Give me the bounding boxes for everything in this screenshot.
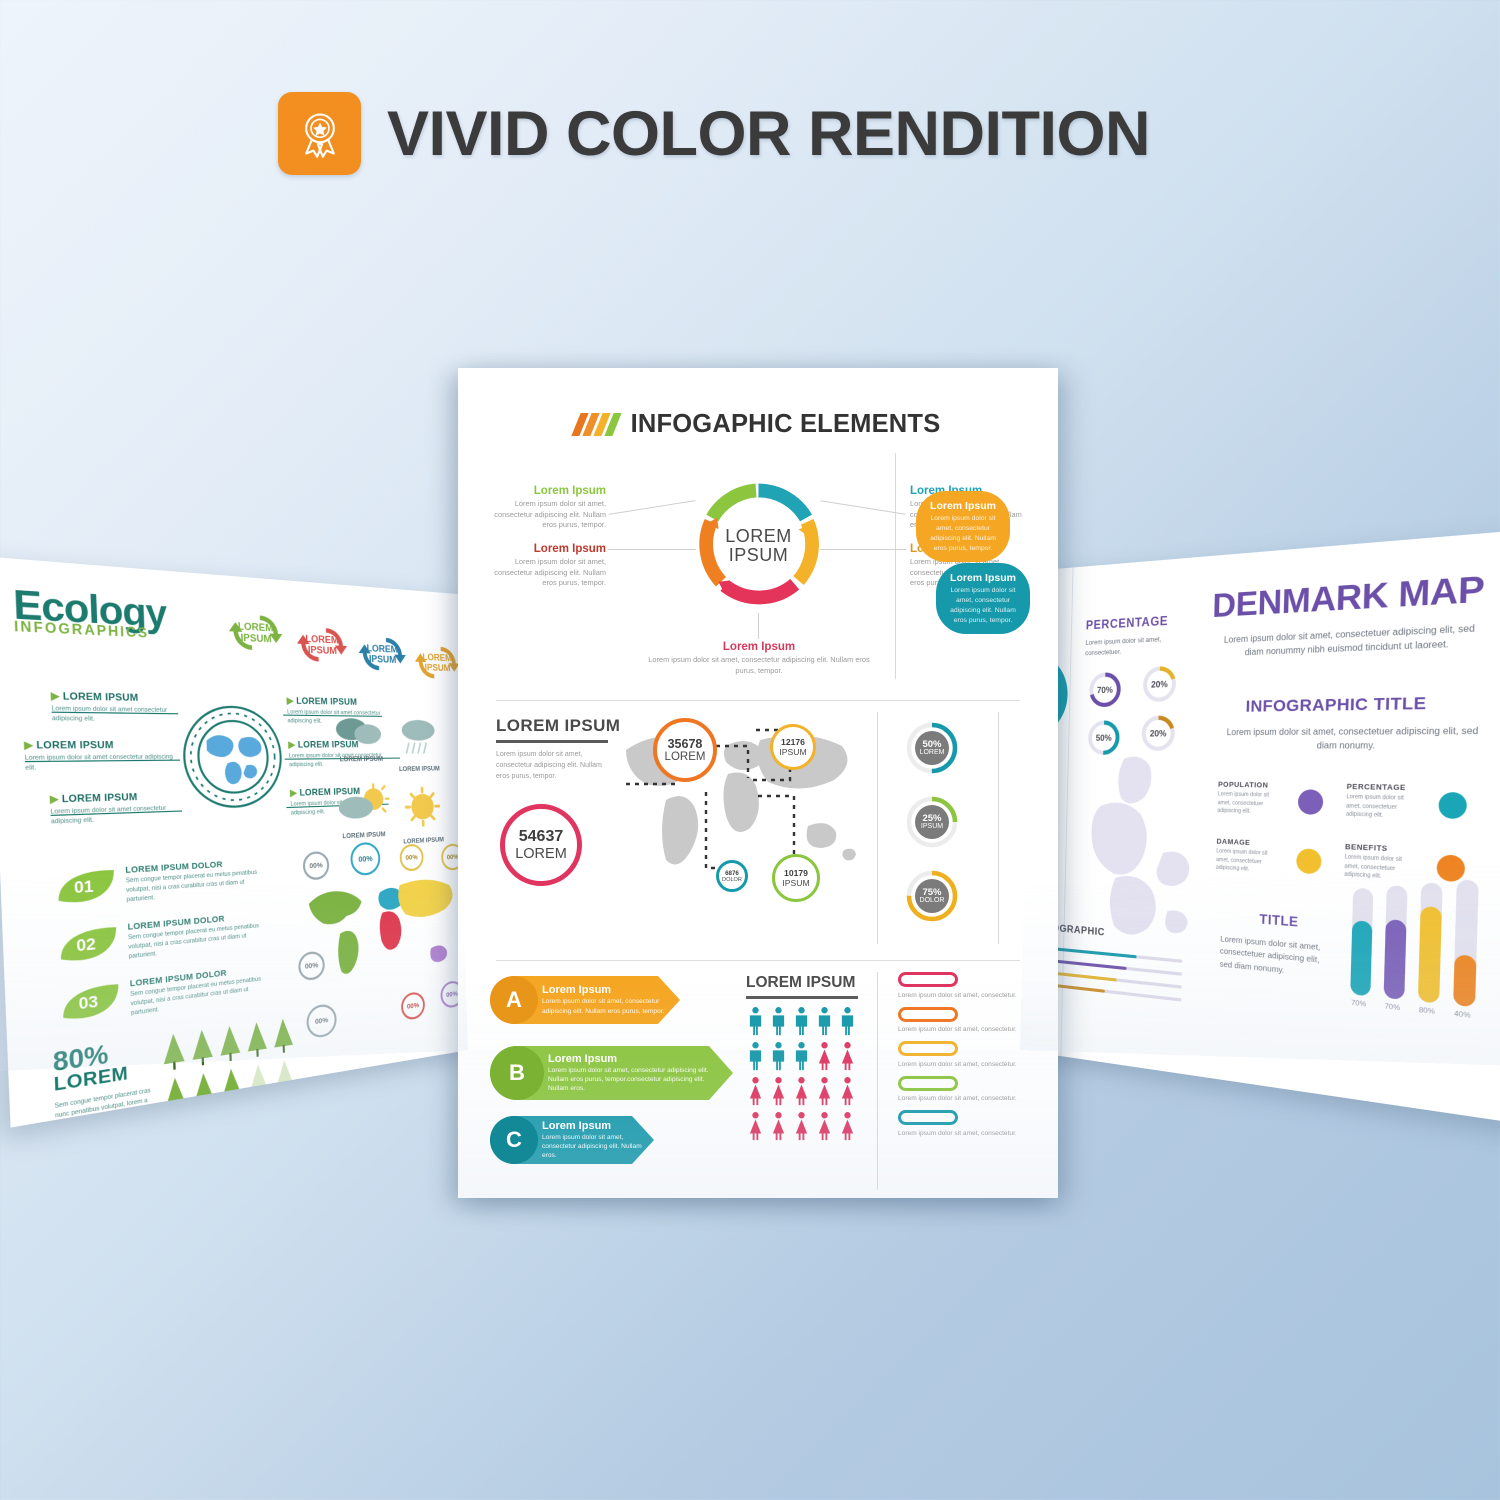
- cycle-center-line2: IPSUM: [729, 546, 789, 565]
- globe-label: ▶ LOREM IPSUM Lorem ipsum dolor sit amet…: [24, 739, 174, 774]
- arrow-banner[interactable]: C Lorem Ipsum Lorem ipsum dolor sit amet…: [490, 1116, 654, 1164]
- globe-diagram: [178, 702, 287, 813]
- tree-icon: [271, 1015, 295, 1056]
- globe-label-body: Lorem ipsum dolor sit amet consectetur a…: [25, 753, 174, 774]
- globe-label-body: Lorem ipsum dolor sit amet consectetur a…: [50, 803, 184, 827]
- pill-caption: Lorem ipsum dolor sit amet, consectetur.: [898, 1095, 1017, 1102]
- person-female-icon: [838, 1041, 857, 1071]
- cycle-label-body: Lorem ipsum dolor sit amet, consectetur …: [478, 499, 606, 531]
- globe-label-body: Lorem ipsum dolor sit amet consectetur a…: [51, 704, 178, 725]
- bar-chart-title: TITLE: [1259, 911, 1299, 930]
- cycle-label-body: Lorem ipsum dolor sit amet, consectetur …: [648, 655, 870, 676]
- rain-cloud-icon: [392, 716, 444, 758]
- legend-item: PERCENTAGE Lorem ipsum dolor sit amet, c…: [1346, 783, 1419, 822]
- person-female-icon: [769, 1111, 788, 1141]
- arrow-banner[interactable]: B Lorem Ipsum Lorem ipsum dolor sit amet…: [490, 1046, 733, 1100]
- tree-icon: [246, 1060, 271, 1102]
- cycle-label-heading: Lorem Ipsum: [478, 485, 606, 497]
- legend-heading: DAMAGE: [1216, 838, 1281, 849]
- globe-label-heading: LOREM IPSUM: [296, 695, 357, 707]
- bar-label: 70%: [1384, 1003, 1400, 1013]
- person-male-icon: [746, 1006, 765, 1036]
- callout-heading: Lorem Ipsum: [950, 572, 1016, 584]
- clouds-icon: [333, 709, 388, 748]
- center-sheet-title: INFOGAPHIC ELEMENTS: [631, 410, 941, 439]
- partly-sunny-icon: [335, 783, 390, 825]
- leaf-number: 02: [76, 934, 96, 955]
- legend-dot: [1436, 854, 1465, 882]
- gauge-percent: 25%: [922, 814, 941, 824]
- pill-shape: [898, 1076, 958, 1091]
- leaf-list-item: 01 LOREM IPSUM DOLOR Sem congue tempor p…: [53, 857, 260, 911]
- gauge-percent: 50%: [922, 740, 941, 750]
- pill-list: Lorem ipsum dolor sit amet, consectetur.…: [898, 972, 1017, 1145]
- percent-gauge: 75% DOLOR: [906, 870, 958, 922]
- marker-label: DOLOR: [722, 877, 742, 883]
- tree-icon: [217, 1022, 242, 1064]
- arrow-heading: Lorem Ipsum: [548, 1053, 723, 1065]
- tree-icon: [160, 1030, 187, 1073]
- map-number-marker[interactable]: 10179 IPSUM: [772, 854, 820, 902]
- cycle-connector: [820, 549, 906, 550]
- cycle-connector: [608, 500, 695, 515]
- pill-caption: Lorem ipsum dolor sit amet, consectetur.: [898, 1026, 1017, 1033]
- gauge-center: 25% IPSUM: [915, 805, 949, 839]
- leaf-number: 03: [78, 991, 98, 1013]
- legend-body: Lorem ipsum dolor sit amet, consectetuer…: [1217, 791, 1282, 818]
- cycle-label: Lorem Ipsum Lorem ipsum dolor sit amet, …: [648, 641, 870, 676]
- people-title-rule: [746, 996, 858, 999]
- gauge-label: LOREM: [920, 749, 945, 756]
- tree-pictogram-grid: [160, 1015, 296, 1117]
- callout-box: Lorem Ipsum Lorem ipsum dolor sit amet, …: [936, 563, 1030, 634]
- gauge-center: 50% LOREM: [915, 731, 949, 765]
- person-female-icon: [769, 1076, 788, 1106]
- cycle-label-heading: Lorem Ipsum: [648, 641, 870, 653]
- person-female-icon: [792, 1076, 811, 1106]
- ecology-infographic-sheet[interactable]: Ecology INFOGRAPHICS LOREM IPSUM LOREM I…: [0, 557, 475, 1128]
- globe-label: ▶ LOREM IPSUM Lorem ipsum dolor sit amet…: [51, 689, 179, 725]
- weather-caption: LOREM IPSUM: [333, 756, 389, 764]
- cycle-label: Lorem Ipsum Lorem ipsum dolor sit amet, …: [478, 485, 606, 531]
- tree-icon: [219, 1065, 244, 1107]
- leaf-icon: 03: [58, 979, 124, 1028]
- percentage-body: Lorem ipsum dolor sit amet, consectetuer…: [1085, 634, 1175, 659]
- bar: [1418, 906, 1442, 1003]
- person-female-icon: [746, 1111, 765, 1141]
- person-male-icon: [769, 1006, 788, 1036]
- section-divider: [496, 960, 1020, 961]
- arrow-body: Lorem ipsum dolor sit amet, consectetur …: [548, 1066, 723, 1094]
- tree-icon: [162, 1073, 189, 1116]
- marker-value: 54637: [519, 828, 564, 846]
- recycle-badge: LOREM IPSUM: [286, 620, 357, 645]
- cycle-label-body: Lorem ipsum dolor sit amet, consectetur …: [478, 557, 606, 589]
- leaf-icon: 02: [55, 922, 122, 969]
- leaf-body: Sem congue tempor placerat eu metus pena…: [126, 869, 261, 906]
- marker-value: 35678: [668, 737, 703, 751]
- gauge-percent: 75%: [922, 888, 941, 898]
- marker-label: IPSUM: [779, 747, 806, 757]
- arrow-body: Lorem ipsum dolor sit amet, consectetur …: [542, 1133, 644, 1161]
- section-divider: [877, 972, 878, 1190]
- people-pictogram-grid: [746, 1006, 857, 1141]
- arrow-tag: C: [490, 1116, 538, 1164]
- map-percent-marker: 00%: [306, 1003, 337, 1040]
- weather-item: LOREM IPSUM: [395, 785, 449, 845]
- person-female-icon: [838, 1076, 857, 1106]
- denmark-map-infographic-sheet[interactable]: % PERCENTAGE Lorem ipsum dolor sit amet,…: [1014, 529, 1500, 1122]
- person-female-icon: [815, 1041, 834, 1071]
- arrow-heading: Lorem Ipsum: [542, 984, 670, 996]
- pill-caption: Lorem ipsum dolor sit amet, consectetur.: [898, 992, 1017, 999]
- page-header: VIVID COLOR RENDITION: [278, 92, 1150, 175]
- map-number-marker[interactable]: 54637 LOREM: [500, 804, 582, 886]
- percent-gauge: 50% LOREM: [906, 722, 958, 774]
- weather-item: LOREM IPSUM: [334, 783, 391, 841]
- pill-shape: [898, 1007, 958, 1022]
- marker-label: LOREM: [515, 846, 567, 862]
- arrow-heading: Lorem Ipsum: [542, 1120, 644, 1132]
- percent-gauge: 25% IPSUM: [906, 796, 958, 848]
- weather-item: LOREM IPSUM: [391, 716, 445, 773]
- gauge-label: DOLOR: [920, 897, 945, 904]
- bar: [1453, 954, 1476, 1007]
- award-badge: [278, 92, 361, 175]
- legend-item: BENEFITS Lorem ipsum dolor sit amet, con…: [1344, 843, 1417, 883]
- tree-icon: [273, 1056, 297, 1097]
- infographic-body: Lorem ipsum dolor sit amet, consectetuer…: [1225, 724, 1479, 754]
- weather-caption: LOREM IPSUM: [336, 831, 392, 841]
- cycle-label-heading: Lorem Ipsum: [478, 543, 606, 555]
- marker-value: 12176: [781, 737, 805, 747]
- percent-block: 80% LOREM Sem congue tempor placerat cra…: [52, 1036, 158, 1127]
- tree-icon: [191, 1069, 217, 1112]
- gauge-label: 50%: [1086, 719, 1121, 757]
- map-number-marker[interactable]: 35678 LOREM: [653, 718, 717, 782]
- pill-caption: Lorem ipsum dolor sit amet, consectetur.: [898, 1061, 1017, 1068]
- pill-caption: Lorem ipsum dolor sit amet, consectetur.: [898, 1130, 1017, 1137]
- legend-heading: BENEFITS: [1345, 843, 1418, 854]
- denmark-map-body: Lorem ipsum dolor sit amet, consectetuer…: [1215, 621, 1485, 661]
- sun-icon: [400, 786, 445, 831]
- world-map-colored: [295, 857, 467, 1007]
- person-female-icon: [838, 1111, 857, 1141]
- legend-dot: [1438, 792, 1467, 819]
- person-male-icon: [746, 1041, 765, 1071]
- cycle-connector: [820, 500, 905, 514]
- pill-list-item: Lorem ipsum dolor sit amet, consectetur.: [898, 1041, 1017, 1068]
- callout-body: Lorem ipsum dolor sit amet, consectetur …: [950, 586, 1016, 625]
- leaf-list-item: 02 LOREM IPSUM DOLOR Sem congue tempor p…: [55, 910, 262, 970]
- map-percent-marker: 00%: [401, 991, 426, 1021]
- bottom-section: A Lorem Ipsum Lorem ipsum dolor sit amet…: [458, 968, 1058, 1198]
- map-number-marker[interactable]: 12176 IPSUM: [770, 724, 816, 770]
- percentage-heading: PERCENTAGE: [1086, 615, 1169, 632]
- gauge-label: IPSUM: [921, 823, 943, 830]
- cycle-connector: [758, 613, 759, 639]
- weather-caption: LOREM IPSUM: [397, 836, 449, 846]
- person-female-icon: [815, 1111, 834, 1141]
- callout-body: Lorem ipsum dolor sit amet, consectetur …: [930, 514, 996, 553]
- award-ribbon-icon: [294, 108, 346, 160]
- gauge-center: 75% DOLOR: [915, 879, 949, 913]
- percentage-gauge: 20%: [1141, 664, 1178, 703]
- slash-logo-icon: [576, 413, 617, 436]
- pill-list-item: Lorem ipsum dolor sit amet, consectetur.: [898, 1076, 1017, 1103]
- globe-label-heading: LOREM IPSUM: [63, 690, 139, 704]
- recycle-badge: LOREM IPSUM: [217, 607, 293, 633]
- globe-label-heading: LOREM IPSUM: [36, 739, 114, 751]
- tree-icon: [189, 1026, 215, 1068]
- map-section-body: Lorem ipsum dolor sit amet, consectetur …: [496, 750, 614, 783]
- bar: [1350, 920, 1372, 996]
- globe-label: ▶ LOREM IPSUM Lorem ipsum dolor sit amet…: [50, 790, 185, 828]
- legend-body: Lorem ipsum dolor sit amet, consectetuer…: [1216, 848, 1281, 876]
- pill-shape: [898, 1110, 958, 1125]
- gauge-label: 70%: [1088, 670, 1123, 708]
- infographic-elements-sheet[interactable]: INFOGAPHIC ELEMENTS LOREM IPSUM: [458, 368, 1058, 1198]
- marker-value: 10179: [784, 868, 808, 878]
- person-female-icon: [815, 1076, 834, 1106]
- section-divider: [877, 712, 878, 944]
- globe-icon: [178, 702, 287, 813]
- center-sheet-header: INFOGAPHIC ELEMENTS: [458, 410, 1058, 439]
- arrow-tag: B: [490, 1046, 544, 1100]
- arrow-banner[interactable]: A Lorem Ipsum Lorem ipsum dolor sit amet…: [490, 976, 680, 1024]
- world-map-section: LOREM IPSUM Lorem ipsum dolor sit amet, …: [458, 708, 1058, 953]
- cycle-center-line1: LOREM: [725, 527, 792, 546]
- percentage-gauge: 50%: [1086, 719, 1121, 757]
- map-section-title: LOREM IPSUM: [496, 716, 620, 736]
- globe-label-heading: LOREM IPSUM: [62, 791, 138, 805]
- pill-shape: [898, 972, 958, 987]
- infographic-title: INFOGRAPHIC TITLE: [1245, 694, 1426, 717]
- marker-label: IPSUM: [782, 878, 809, 888]
- section-divider: [998, 712, 999, 944]
- leaf-list-item: 03 LOREM IPSUM DOLOR Sem congue tempor p…: [58, 964, 265, 1029]
- person-male-icon: [815, 1006, 834, 1036]
- person-female-icon: [746, 1076, 765, 1106]
- bar-label: 40%: [1454, 1010, 1471, 1020]
- callout-heading: Lorem Ipsum: [930, 500, 996, 512]
- legend-item: DAMAGE Lorem ipsum dolor sit amet, conse…: [1216, 838, 1282, 876]
- marker-label: LOREM: [665, 751, 706, 763]
- bar-label: 80%: [1419, 1006, 1435, 1016]
- legend-item: POPULATION Lorem ipsum dolor sit amet, c…: [1217, 781, 1283, 818]
- percentage-gauge: 70%: [1088, 670, 1123, 708]
- cycle-center-label: LOREM IPSUM: [696, 483, 821, 608]
- person-male-icon: [792, 1006, 811, 1036]
- section-divider: [496, 700, 1020, 701]
- map-number-marker[interactable]: 6876 DOLOR: [716, 860, 748, 892]
- section-divider: [895, 453, 896, 679]
- page-title: VIVID COLOR RENDITION: [387, 98, 1150, 170]
- arrow-body: Lorem ipsum dolor sit amet, consectetur …: [542, 997, 670, 1015]
- person-female-icon: [792, 1111, 811, 1141]
- cycle-diagram-section: LOREM IPSUM Lorem Ipsum Lorem ipsum dolo…: [458, 463, 1058, 693]
- bar-label: 70%: [1351, 999, 1366, 1009]
- people-section-title: LOREM IPSUM: [746, 974, 855, 992]
- bar-chart-body: Lorem ipsum dolor sit amet, consectetuer…: [1219, 933, 1321, 981]
- weather-caption: LOREM IPSUM: [393, 765, 446, 773]
- callout-box: Lorem Ipsum Lorem ipsum dolor sit amet, …: [916, 491, 1010, 562]
- person-male-icon: [769, 1041, 788, 1071]
- cycle-connector: [608, 549, 696, 550]
- person-male-icon: [792, 1041, 811, 1071]
- title-rule: [496, 740, 608, 743]
- denmark-map-title: DENMARK MAP: [1212, 567, 1485, 625]
- bar: [1384, 919, 1407, 1000]
- pill-list-item: Lorem ipsum dolor sit amet, consectetur.: [898, 1110, 1017, 1137]
- gauge-label: 20%: [1140, 714, 1177, 753]
- legend-heading: PERCENTAGE: [1347, 783, 1420, 793]
- leaf-icon: 01: [53, 865, 120, 910]
- arrow-tag: A: [490, 976, 538, 1024]
- legend-body: Lorem ipsum dolor sit amet, consectetuer…: [1344, 854, 1417, 884]
- person-male-icon: [838, 1006, 857, 1036]
- percentage-gauge: 20%: [1140, 714, 1177, 753]
- leaf-number: 01: [74, 876, 94, 897]
- pill-list-item: Lorem ipsum dolor sit amet, consectetur.: [898, 972, 1017, 999]
- legend-dot: [1298, 789, 1324, 815]
- pill-list-item: Lorem ipsum dolor sit amet, consectetur.: [898, 1007, 1017, 1034]
- legend-dot: [1296, 848, 1322, 874]
- legend-heading: POPULATION: [1218, 781, 1283, 790]
- marker-value: 6876: [725, 870, 739, 877]
- gauge-label: 20%: [1141, 664, 1178, 703]
- cycle-label: Lorem Ipsum Lorem ipsum dolor sit amet, …: [478, 543, 606, 589]
- pill-shape: [898, 1041, 958, 1056]
- legend-body: Lorem ipsum dolor sit amet, consectetuer…: [1346, 794, 1419, 822]
- weather-item: LOREM IPSUM: [332, 709, 390, 764]
- tree-icon: [245, 1019, 270, 1060]
